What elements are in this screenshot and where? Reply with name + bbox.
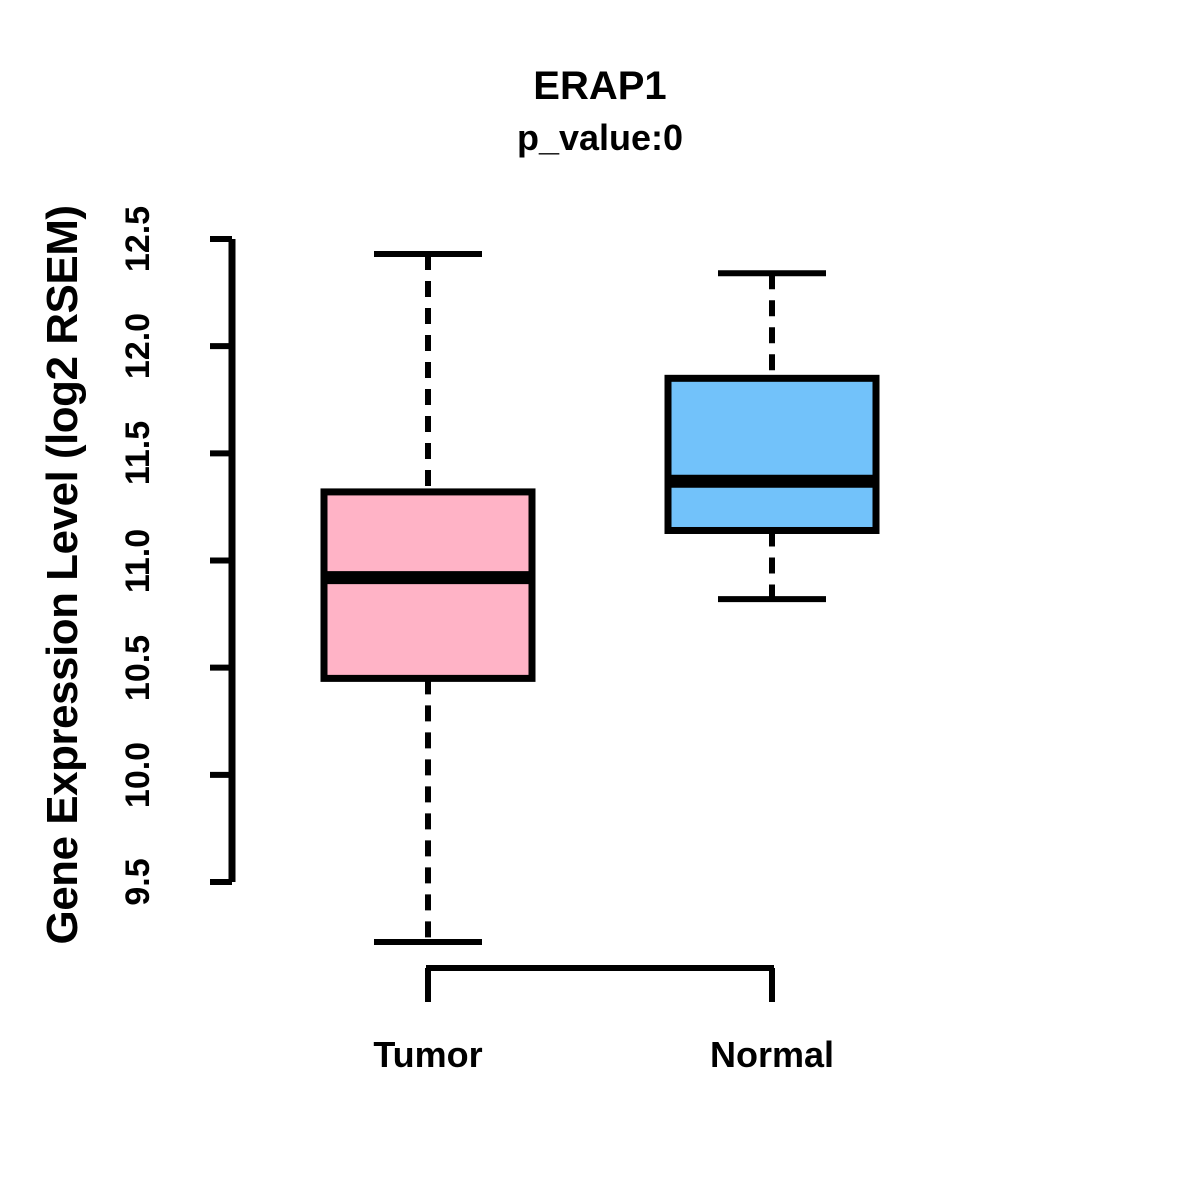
x-axis-bracket [426,968,774,1002]
box-group-layer [321,254,879,942]
x-tick-label-normal: Normal [622,1034,922,1076]
x-tick-label-tumor: Tumor [278,1034,578,1076]
y-tick-label: 12.0 [121,286,155,406]
y-tick-label: 10.0 [121,715,155,835]
y-tick-label: 11.5 [121,393,155,513]
y-tick-label: 9.5 [121,822,155,942]
box-tumor[interactable] [321,254,535,942]
plot-canvas [0,0,1200,1200]
box-rect [668,378,876,530]
boxplot-figure: ERAP1 p_value:0 Gene Expression Level (l… [0,0,1200,1200]
box-normal[interactable] [665,273,879,599]
y-tick-label: 11.0 [121,501,155,621]
y-tick-label: 12.5 [121,179,155,299]
y-tick-label: 10.5 [121,608,155,728]
box-rect [324,492,532,678]
